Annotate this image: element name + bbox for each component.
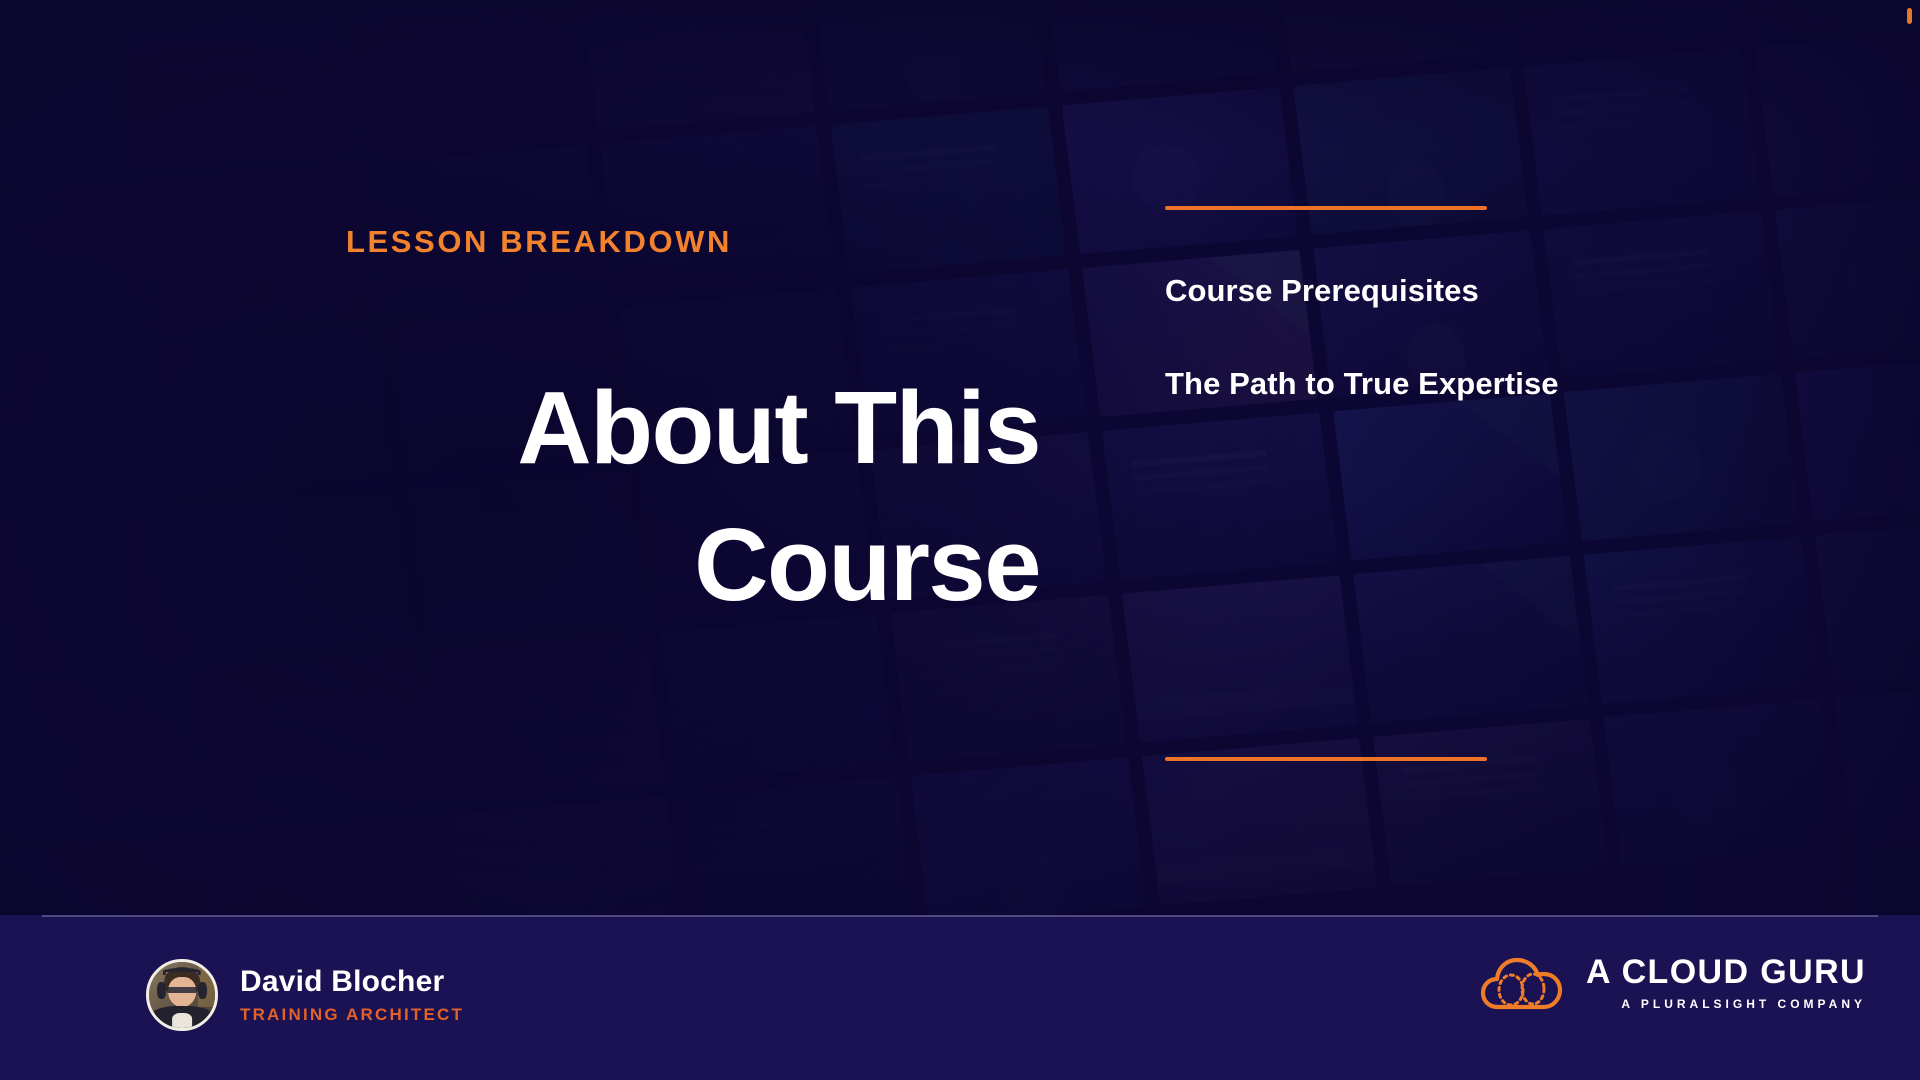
agenda-list: Course Prerequisites The Path to True Ex… [1165, 273, 1725, 402]
slide-root: LESSON BREAKDOWN About This Course Cours… [0, 0, 1920, 1080]
agenda-item-course-prerequisites: Course Prerequisites [1165, 273, 1725, 309]
page-title-line-1: About This [260, 360, 1040, 497]
presenter-text: David Blocher TRAINING ARCHITECT [240, 965, 464, 1025]
brand-block: A CLOUD GURU A PLURALSIGHT COMPANY [1480, 953, 1866, 1011]
slide-footer: David Blocher TRAINING ARCHITECT A CLOUD… [0, 915, 1920, 1080]
cloud-icon [1480, 953, 1564, 1011]
agenda-rule-top [1165, 206, 1487, 210]
presenter-block: David Blocher TRAINING ARCHITECT [146, 959, 464, 1031]
footer-divider [42, 915, 1878, 917]
page-title-line-2: Course [260, 497, 1040, 634]
brand-tagline: A PLURALSIGHT COMPANY [1621, 997, 1866, 1011]
agenda-rule-bottom [1165, 757, 1487, 761]
page-title: About This Course [260, 360, 1040, 634]
presenter-name: David Blocher [240, 965, 464, 999]
avatar [146, 959, 218, 1031]
slide-eyebrow-label: LESSON BREAKDOWN [0, 224, 1078, 260]
agenda-panel: Course Prerequisites The Path to True Ex… [1165, 206, 1725, 459]
brand-name: A CLOUD GURU [1586, 953, 1866, 992]
agenda-item-path-to-true-expertise: The Path to True Expertise [1165, 366, 1725, 402]
brand-text: A CLOUD GURU A PLURALSIGHT COMPANY [1586, 953, 1866, 1011]
presenter-role: TRAINING ARCHITECT [240, 1005, 464, 1025]
